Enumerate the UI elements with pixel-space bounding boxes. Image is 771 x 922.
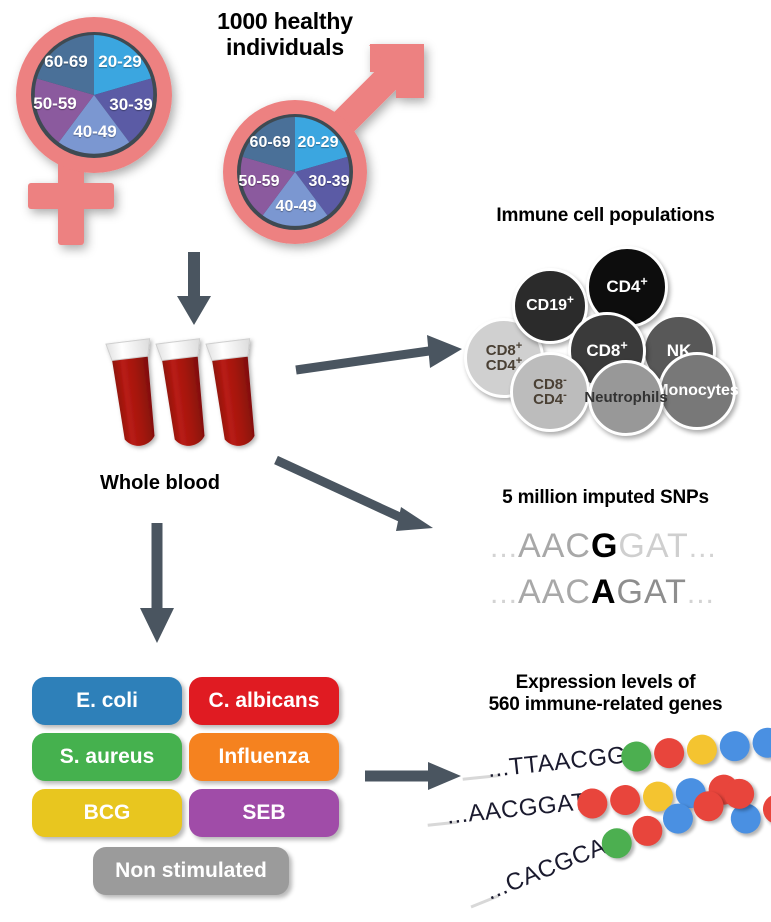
dna-bead [653, 737, 686, 770]
section-title-expression: Expression levels of 560 immune-related … [440, 672, 771, 716]
stimulation-non-stimulated[interactable]: Non stimulated [93, 847, 289, 895]
dna-strand-text: ...AACGGAT [445, 788, 588, 831]
expression-title-line2: 560 immune-related genes [440, 694, 771, 716]
dna-bead [685, 733, 718, 766]
stimulation-influenza[interactable]: Influenza [189, 733, 339, 781]
stimulation-seb[interactable]: SEB [189, 789, 339, 837]
dna-bead [609, 784, 642, 817]
study-design-figure: 1000 healthy individuals 20-29 30-39 40-… [0, 0, 771, 922]
dna-strand-text: ...TTAACGG [486, 742, 627, 784]
expression-title-line1: Expression levels of [440, 672, 771, 694]
stimulation-calbicans[interactable]: C. albicans [189, 677, 339, 725]
dna-bead [761, 793, 771, 826]
dna-bead [751, 726, 771, 759]
stimulation-bcg[interactable]: BCG [32, 789, 182, 837]
dna-bead [628, 811, 667, 850]
stimulation-saureus[interactable]: S. aureus [32, 733, 182, 781]
dna-strands-group: ...TTAACGG ...AACGGAT ...CACGCAA [440, 730, 771, 920]
dna-bead [718, 730, 751, 763]
stimulation-ecoli[interactable]: E. coli [32, 677, 182, 725]
